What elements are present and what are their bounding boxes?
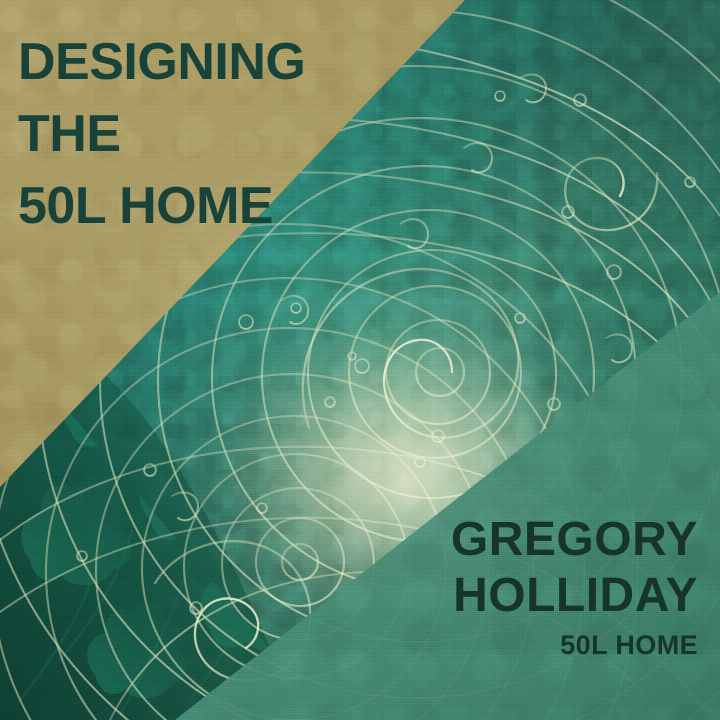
book-cover: DESIGNING THE 50L HOME GREGORY HOLLIDAY … [0,0,720,720]
title-line-2: THE [18,102,438,166]
title-block: DESIGNING THE 50L HOME [18,30,438,246]
title-line-1: DESIGNING [18,30,438,94]
author-block: GREGORY HOLLIDAY 50L HOME [218,512,698,662]
title-line-3: 50L HOME [18,174,438,238]
author-line-2: HOLLIDAY [218,568,698,624]
author-subtitle: 50L HOME [218,628,698,662]
author-line-1: GREGORY [218,512,698,568]
